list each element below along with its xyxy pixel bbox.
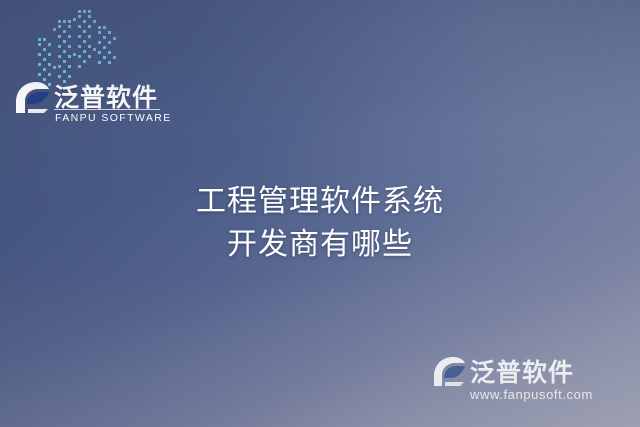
brand-divider xyxy=(54,109,160,110)
page-title: 工程管理软件系统 开发商有哪些 xyxy=(0,180,640,266)
fanpu-watermark-mark-icon xyxy=(432,355,466,387)
watermark-name-cn: 泛普软件 xyxy=(470,353,574,389)
brand-name-en: FANPU SOFTWARE xyxy=(55,112,172,124)
fanpu-logo-mark-icon xyxy=(14,80,50,114)
page-title-line-2: 开发商有哪些 xyxy=(0,223,640,266)
watermark-logo: 泛普软件 www.fanpusoft.com xyxy=(432,355,628,413)
watermark-url: www.fanpusoft.com xyxy=(470,387,593,402)
page-title-line-1: 工程管理软件系统 xyxy=(0,180,640,223)
banner-image: 泛普软件 FANPU SOFTWARE 工程管理软件系统 开发商有哪些 泛普软件… xyxy=(0,0,640,427)
brand-logo-top: 泛普软件 FANPU SOFTWARE xyxy=(14,78,164,136)
